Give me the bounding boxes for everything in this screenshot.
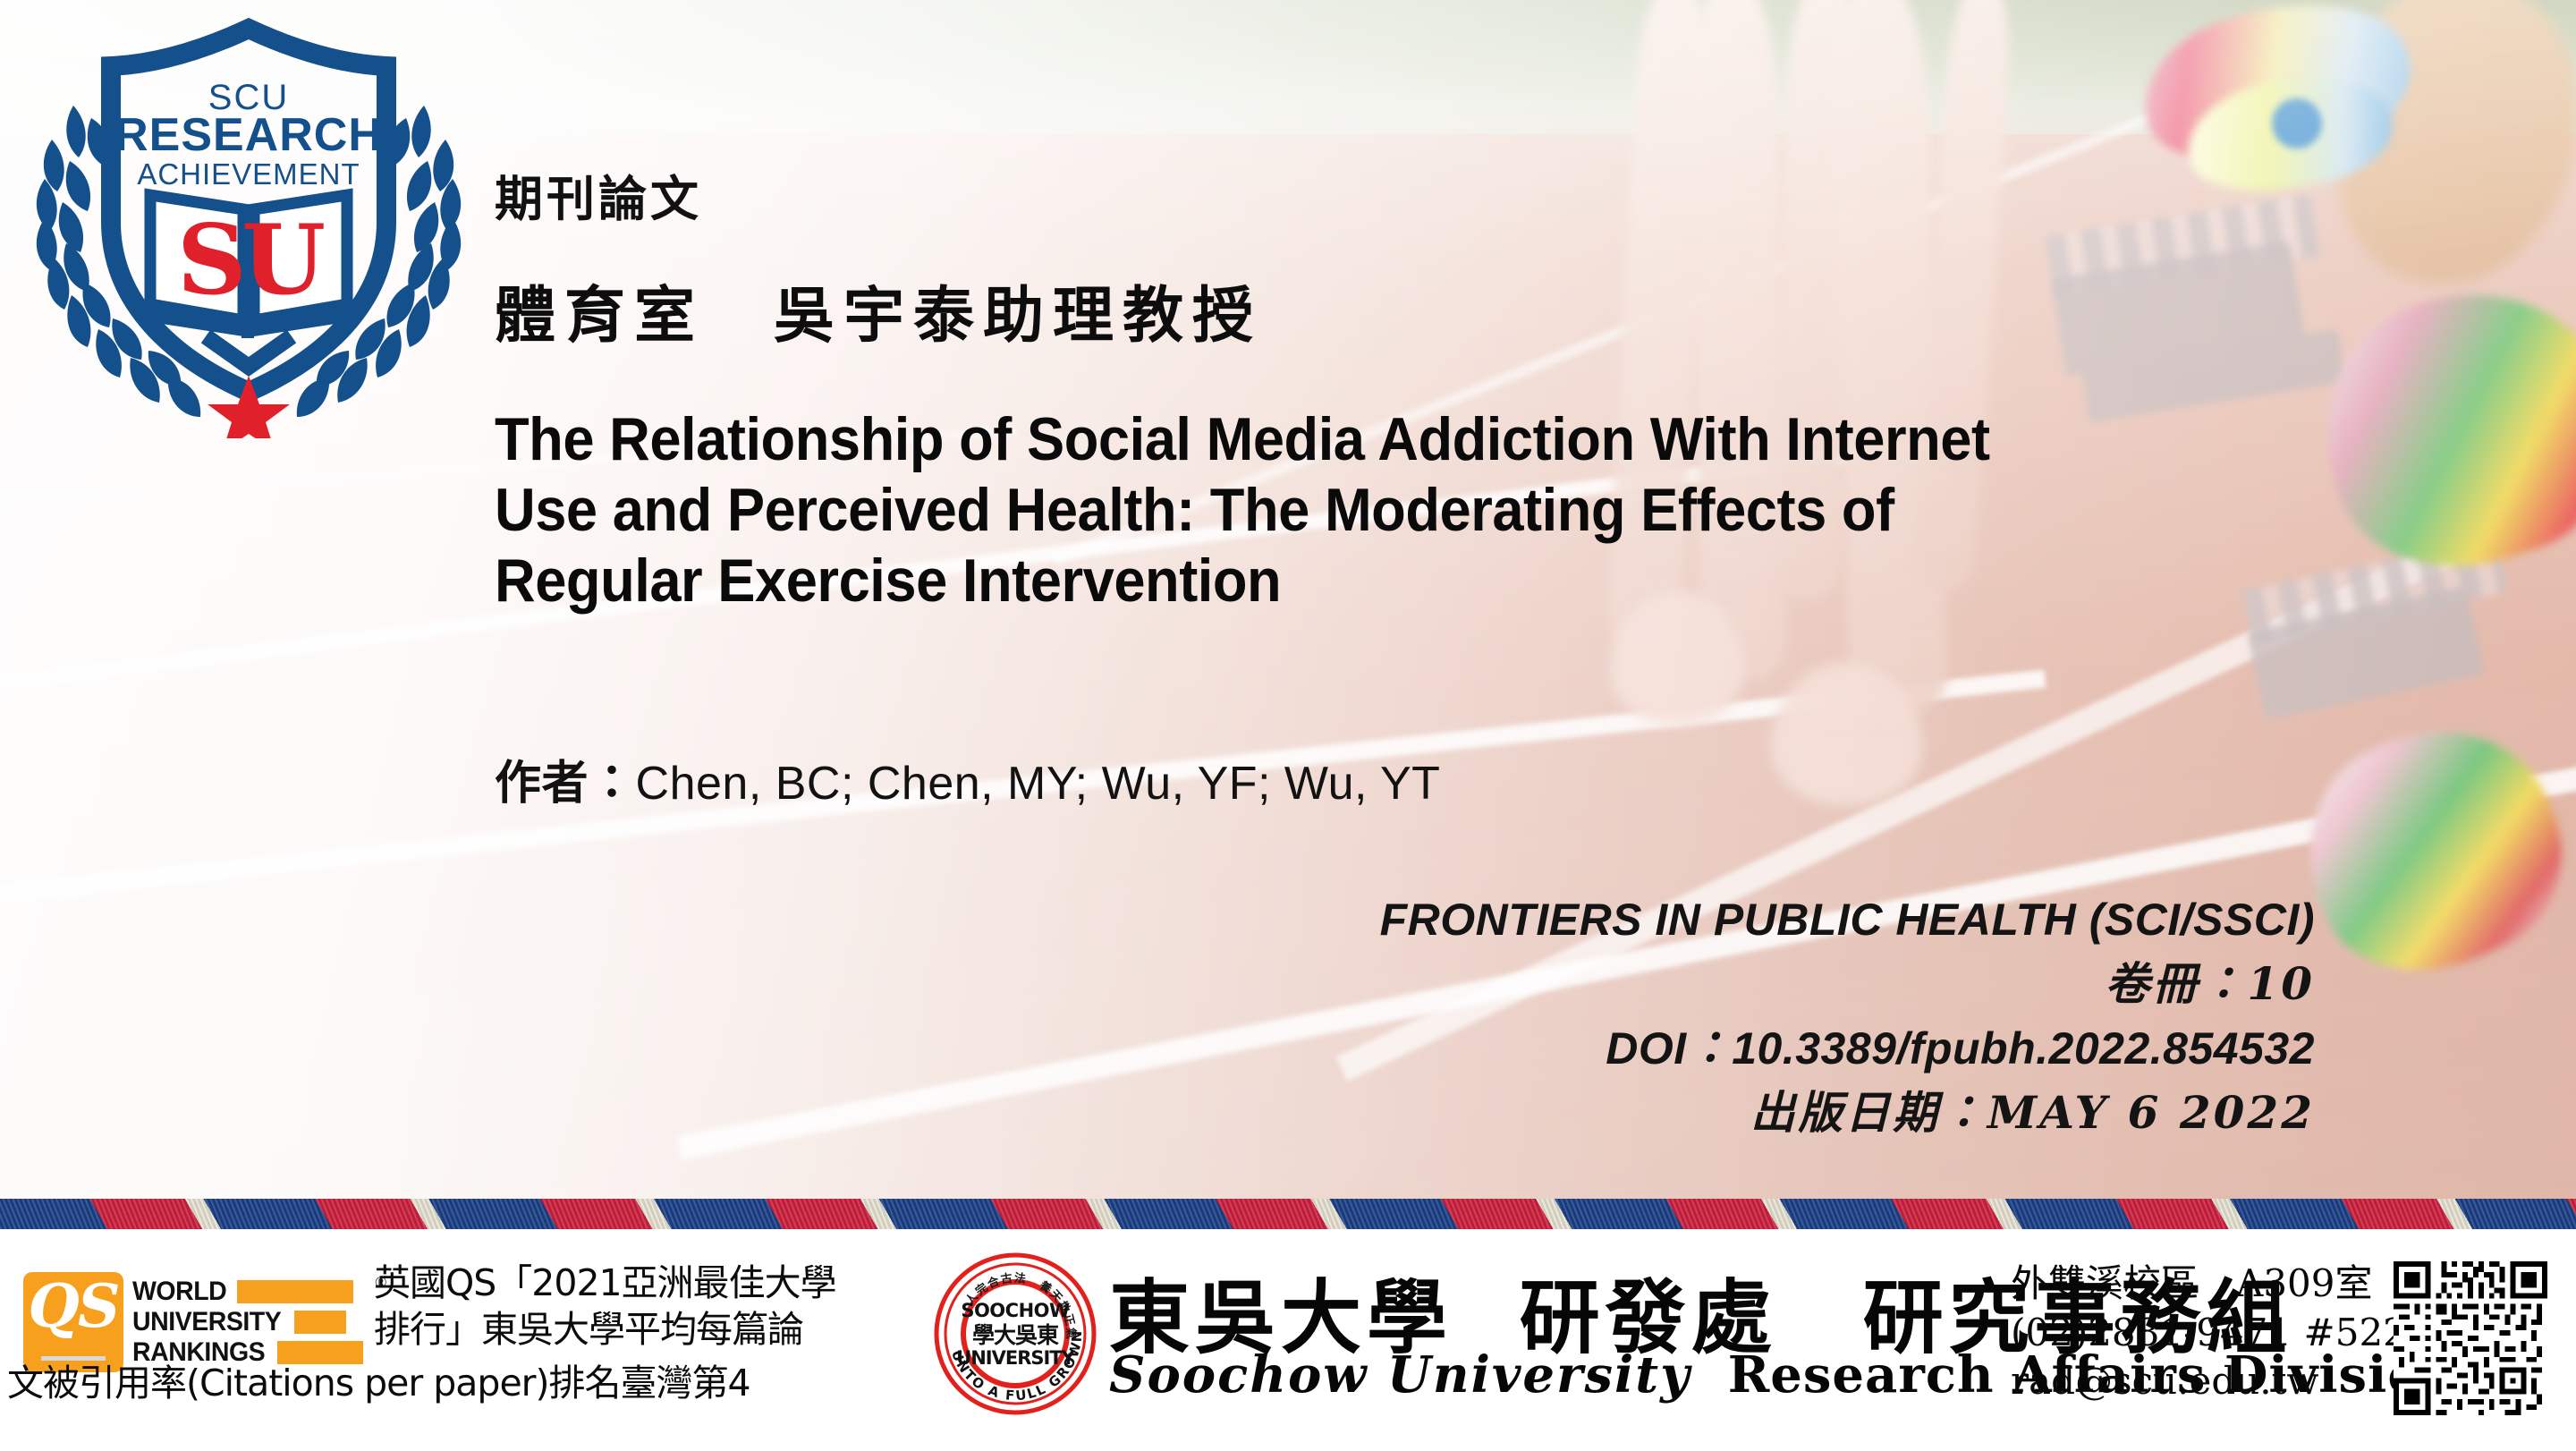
qs-orange-bar [294,1311,346,1334]
qs-word-row: WORLD ® [132,1277,372,1307]
journal-volume: 卷冊：10 [884,952,2315,1016]
page-title: The Relationship of Social Media Addicti… [495,404,2100,616]
qs-mark-label: QS [23,1276,123,1337]
crest-monogram: SU [177,204,324,317]
authors-value: Chen, BC; Chen, MY; Wu, YF; Wu, YT [636,758,1441,810]
seal-top-arc: SOOCHOW [961,1300,1070,1321]
journal-metadata-block: FRONTIERS IN PUBLIC HEALTH (SCI/SSCI) 卷冊… [884,887,2315,1145]
soochow-university-wordmark: 東吳大學 研發處 研究事務組 Soochow University Resear… [1109,1247,2004,1426]
qr-code[interactable] [2394,1261,2547,1415]
crest-line-research: RESEARCH [114,109,383,161]
ribbon-texture [0,1199,2576,1229]
qs-orange-bar [237,1280,353,1303]
seal-cjk-center: 學大吳東 [972,1322,1059,1348]
qs-caption-line-1: 英國QS「2021亞洲最佳大學 [374,1260,857,1306]
category-label: 期刊論文 [495,159,702,230]
soochow-university-seal: 人完合古法 養天地正氣 UNTO A FULL GROWN MAN SOOCHO… [934,1252,1097,1415]
journal-doi: DOI：10.3389/fpubh.2022.854532 [884,1016,2315,1081]
scu-research-achievement-crest: SCU RESEARCH ACHIEVEMENT SU [16,9,481,438]
qs-word-world: WORLD [132,1278,226,1305]
qs-word-row: UNIVERSITY [132,1307,372,1337]
poster-root: SCU RESEARCH ACHIEVEMENT SU 期刊論文 體育室 吳宇泰… [0,0,2576,1451]
qs-caption-line-3: 文被引用率(Citations per paper)排名臺灣第4 [7,1360,884,1406]
journal-published-date: 出版日期：MAY 6 2022 [884,1081,2315,1145]
university-name-en: Soochow University [1109,1345,1691,1404]
footer-bar: QS WORLD ® UNIVERSITY RANKINGS [0,1229,2576,1451]
qs-world-university-rankings-logo: QS WORLD ® UNIVERSITY RANKINGS [23,1272,372,1372]
decorative-striped-ribbon [0,1199,2576,1229]
qs-word-university: UNIVERSITY [132,1309,281,1336]
qs-mark-icon: QS [23,1272,123,1372]
journal-name: FRONTIERS IN PUBLIC HEALTH (SCI/SSCI) [884,887,2315,952]
authors-label: 作者： [495,756,636,810]
department-and-professor: 體育室 吳宇泰助理教授 [495,266,1262,354]
qs-wordmark: WORLD ® UNIVERSITY RANKINGS [132,1272,372,1372]
qs-caption-line-2: 排行」東吳大學平均每篇論 [374,1306,857,1353]
crest-line-achievement: ACHIEVEMENT [137,157,360,191]
seal-bottom-arc: UNIVERSITY [956,1347,1075,1369]
qs-ranking-caption: 英國QS「2021亞洲最佳大學 排行」東吳大學平均每篇論 文被引用率(Citat… [374,1260,857,1353]
authors-line: 作者：Chen, BC; Chen, MY; Wu, YF; Wu, YT [495,745,1440,812]
